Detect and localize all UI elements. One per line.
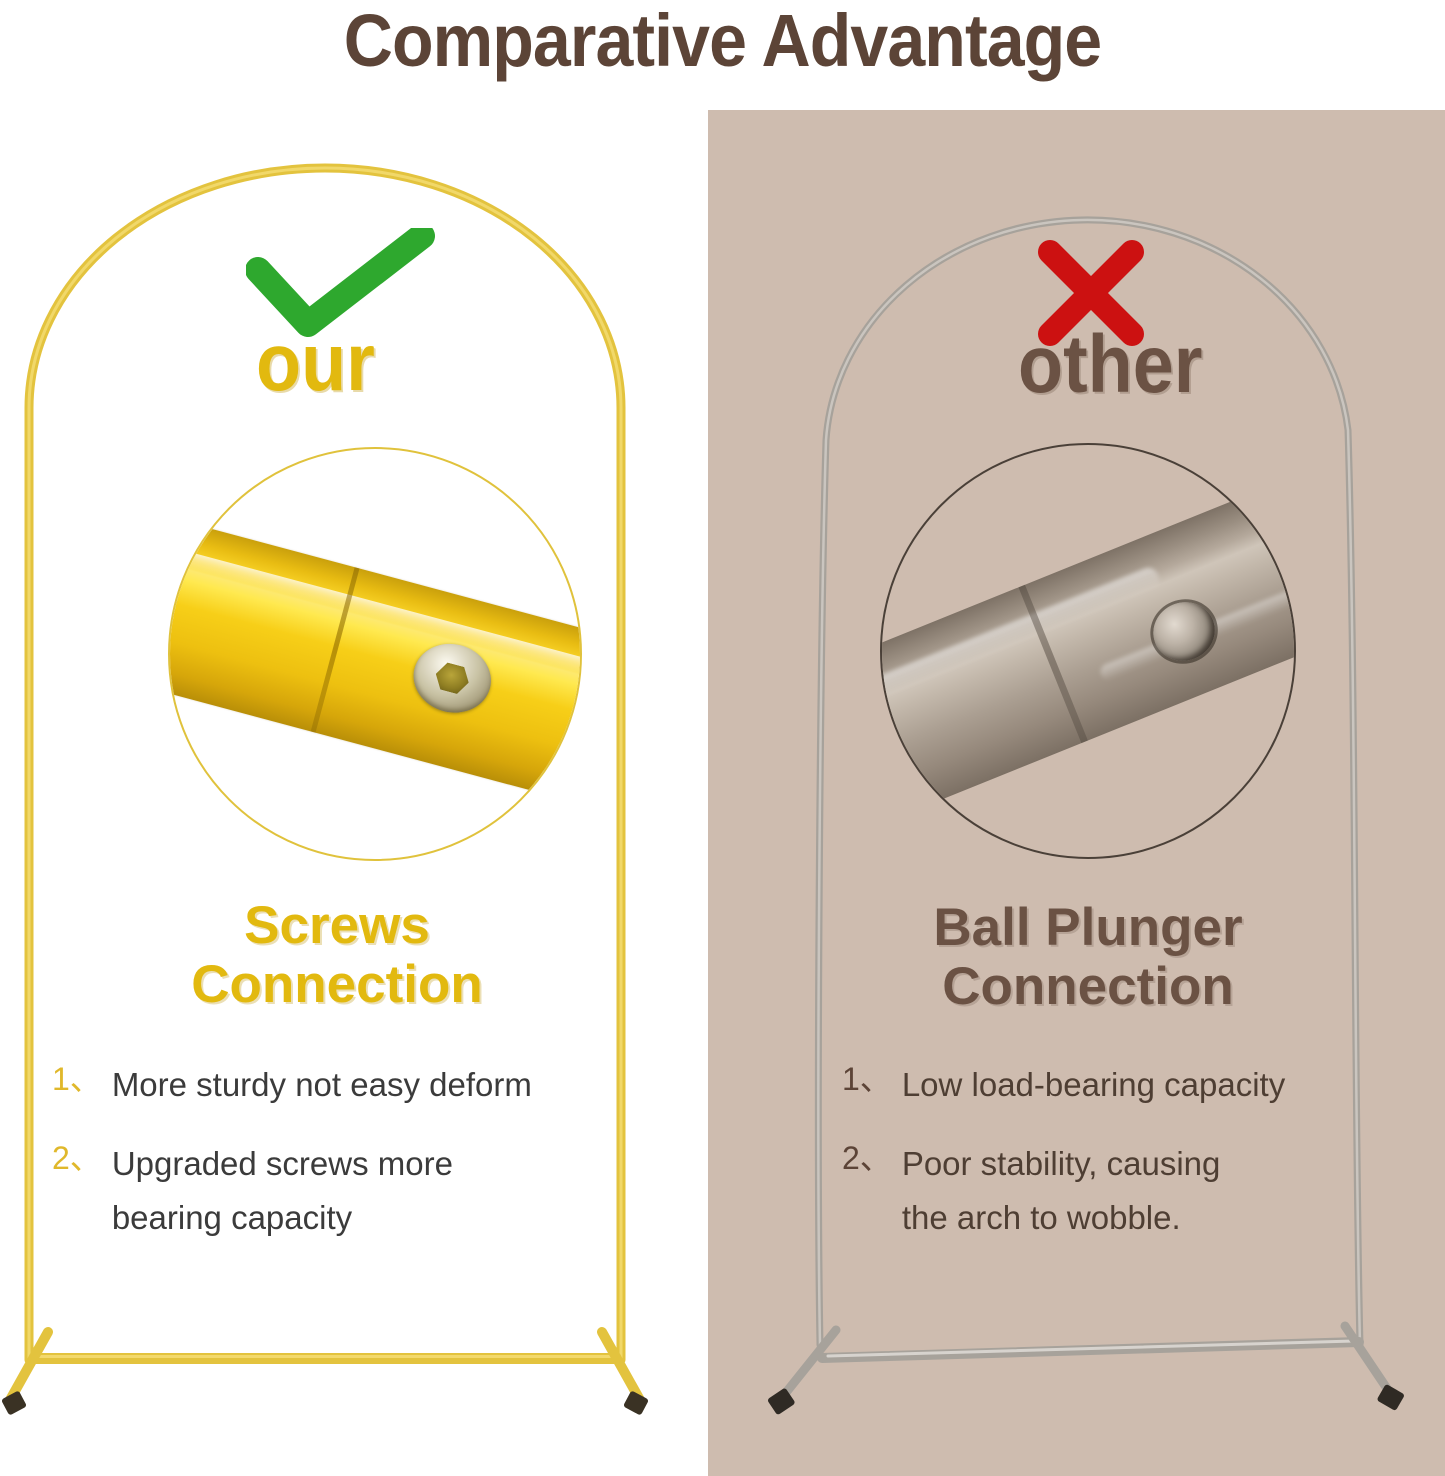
tube-highlight xyxy=(168,538,582,691)
list-item: 1、 More sturdy not easy deform xyxy=(52,1058,652,1111)
ball-plunger-detail-photo xyxy=(880,443,1296,859)
list-item: 2、 Poor stability, causing the arch to w… xyxy=(842,1137,1382,1244)
bullet-text: Upgraded screws more bearing capacity xyxy=(112,1137,453,1244)
left-headline: Screws Connection xyxy=(32,896,642,1015)
bullet-number: 1、 xyxy=(842,1058,892,1101)
list-item: 2、 Upgraded screws more bearing capacity xyxy=(52,1137,652,1244)
bullet-number: 2、 xyxy=(842,1137,892,1180)
list-item: 1、 Low load-bearing capacity xyxy=(842,1058,1382,1111)
grey-tube xyxy=(880,470,1296,821)
other-label: other xyxy=(1018,324,1203,406)
bullet-text: More sturdy not easy deform xyxy=(112,1058,532,1111)
comparative-advantage-infographic: Comparative Advantage our other xyxy=(0,0,1445,1476)
our-label: our xyxy=(256,322,375,404)
bullet-number: 2、 xyxy=(52,1137,102,1180)
right-headline: Ball Plunger Connection xyxy=(808,898,1368,1017)
yellow-tube xyxy=(168,511,582,812)
hex-socket-screw-icon xyxy=(406,635,499,721)
left-bullet-list: 1、 More sturdy not easy deform 2、 Upgrad… xyxy=(52,1058,652,1270)
bullet-text: Poor stability, causing the arch to wobb… xyxy=(902,1137,1221,1244)
bullet-text: Low load-bearing capacity xyxy=(902,1058,1285,1111)
screw-hex-socket xyxy=(432,660,472,696)
right-bullet-list: 1、 Low load-bearing capacity 2、 Poor sta… xyxy=(842,1058,1382,1270)
bullet-number: 1、 xyxy=(52,1058,102,1101)
screw-connection-detail-photo xyxy=(168,447,582,861)
